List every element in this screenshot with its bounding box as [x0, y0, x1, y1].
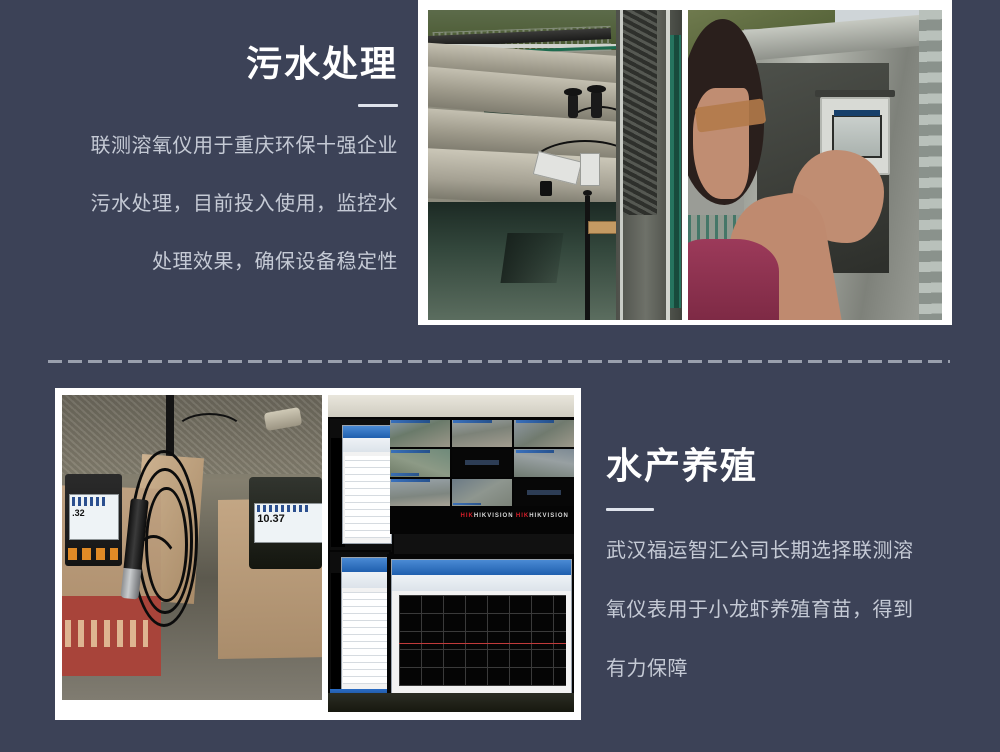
- software-window-lower-left: [341, 557, 390, 690]
- monitor-upper-left: [328, 417, 394, 554]
- aquaculture-photo-group: .32 10.37: [55, 388, 581, 720]
- cctv-osd-bar: [391, 420, 430, 423]
- aquaculture-title: 水产养殖: [606, 444, 956, 488]
- photo-technician-cabinet: [685, 0, 952, 325]
- do-sensor-1: [568, 94, 578, 119]
- cctv-osd-bar: [391, 450, 430, 453]
- software-window-trend: [391, 559, 572, 695]
- do-sensor-2: [591, 91, 602, 119]
- do-meter-left-lcd: .32: [69, 494, 119, 540]
- wastewater-title-rule: [358, 104, 398, 107]
- cctv-cell: [390, 479, 450, 507]
- window-titlebar: [392, 560, 571, 575]
- aquaculture-title-rule: [606, 508, 654, 511]
- cctv-cell: [452, 420, 512, 448]
- no-signal-label: [465, 460, 499, 465]
- window-titlebar: [343, 426, 391, 439]
- upper-monitor-row: HIKHIKVISION HIKHIKVISION: [328, 417, 574, 550]
- wastewater-body-line-3: 处理效果，确保设备稳定性: [40, 244, 398, 281]
- do-meter-left-keypad: [68, 548, 118, 561]
- technician-shirt: [688, 239, 779, 320]
- cctv-cell: [514, 449, 574, 477]
- overhead-wire: [174, 413, 246, 454]
- hikvision-logo-text-2: HIKVISION: [529, 513, 569, 519]
- software-window-upper: [342, 425, 392, 544]
- ceiling-light: [328, 395, 574, 417]
- data-list: [343, 592, 387, 684]
- hikvision-logo-right: HIKHIKVISION: [516, 513, 569, 519]
- dashed-divider: [48, 360, 950, 363]
- corrugated-panel: [919, 10, 942, 320]
- promo-page: 污水处理 联测溶氧仪用于重庆环保十强企业 污水处理，目前投入使用，监控水 处理效…: [0, 0, 1000, 752]
- photo-wastewater-tanks: [418, 0, 685, 325]
- cctv-osd-bar: [516, 450, 555, 453]
- metal-grating: [623, 10, 657, 215]
- photo-monitor-wall: HIKHIKVISION HIKHIKVISION: [325, 388, 581, 720]
- mounting-bracket-2: [580, 153, 600, 186]
- monitor-trend-chart: [387, 554, 574, 700]
- cctv-cell: [390, 420, 450, 448]
- cctv-cell: [452, 479, 512, 507]
- aquaculture-body-line-2: 氧仪表用于小龙虾养殖育苗，得到: [606, 592, 956, 629]
- cctv-cell-no-signal: [514, 479, 574, 507]
- aquaculture-body-line-3: 有力保障: [606, 651, 956, 688]
- do-meters-image: .32 10.37: [62, 395, 322, 700]
- wastewater-text-block: 污水处理 联测溶氧仪用于重庆环保十强企业 污水处理，目前投入使用，监控水 处理效…: [40, 42, 398, 281]
- window-toolbar: [343, 438, 391, 452]
- right-railing: [616, 10, 682, 320]
- technician-cabinet-image: [688, 10, 942, 320]
- monitor-lower-left: [328, 550, 391, 700]
- water-reflection: [501, 233, 564, 283]
- monitor-cctv: HIKHIKVISION HIKHIKVISION: [390, 417, 575, 534]
- window-titlebar: [342, 558, 389, 572]
- cctv-grid: [390, 420, 575, 507]
- do-meter-left-reading: .32: [72, 508, 85, 518]
- wastewater-body-line-2: 污水处理，目前投入使用，监控水: [40, 186, 398, 223]
- photo-do-meters: .32 10.37: [55, 388, 325, 720]
- cctv-cell: [514, 420, 574, 448]
- window-toolbar: [342, 572, 389, 588]
- no-signal-label: [527, 490, 561, 495]
- wastewater-photo-group: [418, 0, 952, 325]
- wastewater-tanks-image: [428, 10, 682, 320]
- trend-chart-grid: [399, 595, 566, 686]
- do-meter-right-reading: 10.37: [257, 513, 285, 525]
- cctv-osd-bar: [391, 479, 430, 482]
- data-list: [345, 456, 390, 538]
- probe-head: [540, 181, 553, 197]
- desk-surface: [328, 693, 574, 712]
- lcd-header-bar-left: [72, 497, 106, 506]
- do-meter-right-lcd: 10.37: [254, 503, 322, 543]
- wastewater-body-line-1: 联测溶氧仪用于重庆环保十强企业: [40, 128, 398, 165]
- cctv-brand-row: HIKHIKVISION HIKHIKVISION: [436, 504, 574, 520]
- wastewater-title: 污水处理: [40, 42, 398, 86]
- probe-pole: [585, 196, 589, 320]
- cctv-osd-bar: [453, 420, 492, 423]
- cctv-osd-bar: [516, 420, 555, 423]
- aquaculture-text-block: 水产养殖 武汉福运智汇公司长期选择联测溶 氧仪表用于小龙虾养殖育苗，得到 有力保…: [606, 444, 956, 688]
- cctv-osd-bar: [391, 473, 419, 475]
- teal-fence-panel: [670, 35, 681, 308]
- do-meter-left: .32: [65, 474, 122, 566]
- window-toolbar: [392, 575, 571, 591]
- aquaculture-body-line-1: 武汉福运智汇公司长期选择联测溶: [606, 533, 956, 570]
- cctv-cell: [390, 449, 450, 477]
- lcd-header-bar-right: [257, 505, 309, 513]
- cctv-cell-no-signal: [452, 449, 512, 477]
- hikvision-logo-left: HIKHIKVISION: [461, 513, 514, 519]
- monitor-wall-image: HIKHIKVISION HIKHIKVISION: [328, 395, 574, 712]
- do-meter-right: 10.37: [249, 477, 322, 569]
- hikvision-logo-text: HIKVISION: [474, 513, 514, 519]
